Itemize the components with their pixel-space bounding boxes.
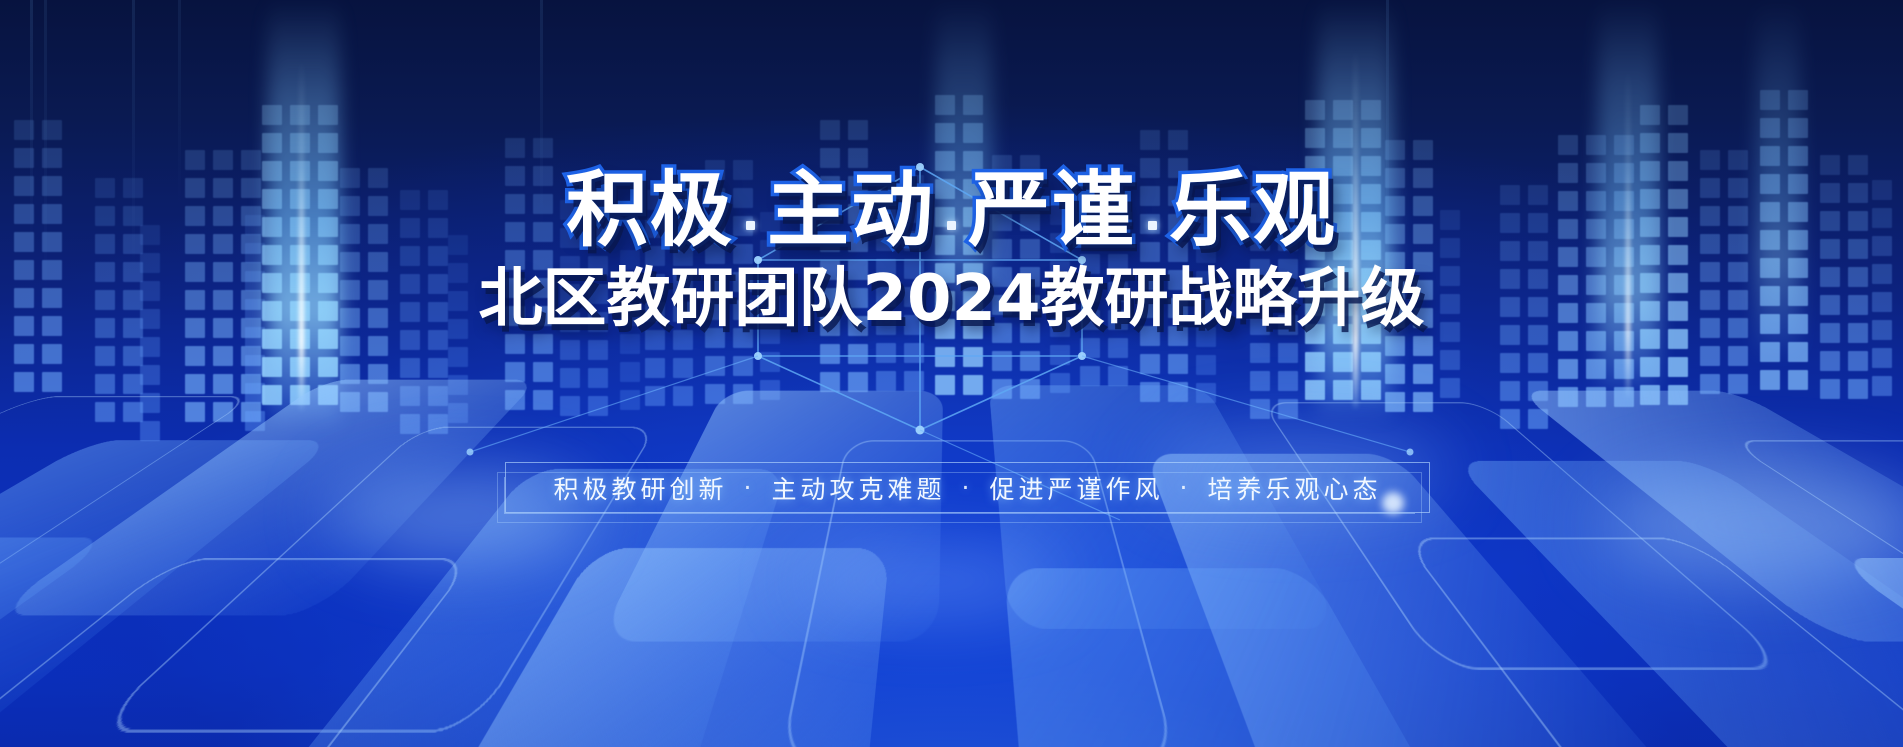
main-title-segment: 积极 [566,170,734,252]
tagline-separator: · [1179,473,1191,502]
title-zone: 积极主动严谨乐观 北区教研团队2024教研战略升级 积极教研创新·主动攻克难题·… [0,0,1903,747]
tagline-segment: 促进严谨作风 [987,470,1165,506]
tagline: 积极教研创新·主动攻克难题·促进严谨作风·培养乐观心态 [506,463,1429,512]
tagline-segment: 积极教研创新 [552,470,730,506]
title-separator-dot [1148,221,1157,230]
tagline-segment: 培养乐观心态 [1205,470,1383,506]
tagline-separator: · [962,473,974,502]
main-title-segment: 主动 [767,170,935,252]
tagline-separator: · [744,473,756,502]
tagline-frame: 积极教研创新·主动攻克难题·促进严谨作风·培养乐观心态 [505,462,1430,513]
title-separator-dot [947,221,956,230]
main-title: 积极主动严谨乐观 [0,170,1903,252]
main-title-segment: 严谨 [968,170,1136,252]
tagline-segment: 主动攻克难题 [770,470,948,506]
main-title-segment: 乐观 [1169,170,1337,252]
event-banner: 积极主动严谨乐观 北区教研团队2024教研战略升级 积极教研创新·主动攻克难题·… [0,0,1903,747]
sub-title: 北区教研团队2024教研战略升级 [0,267,1903,331]
title-separator-dot [746,221,755,230]
